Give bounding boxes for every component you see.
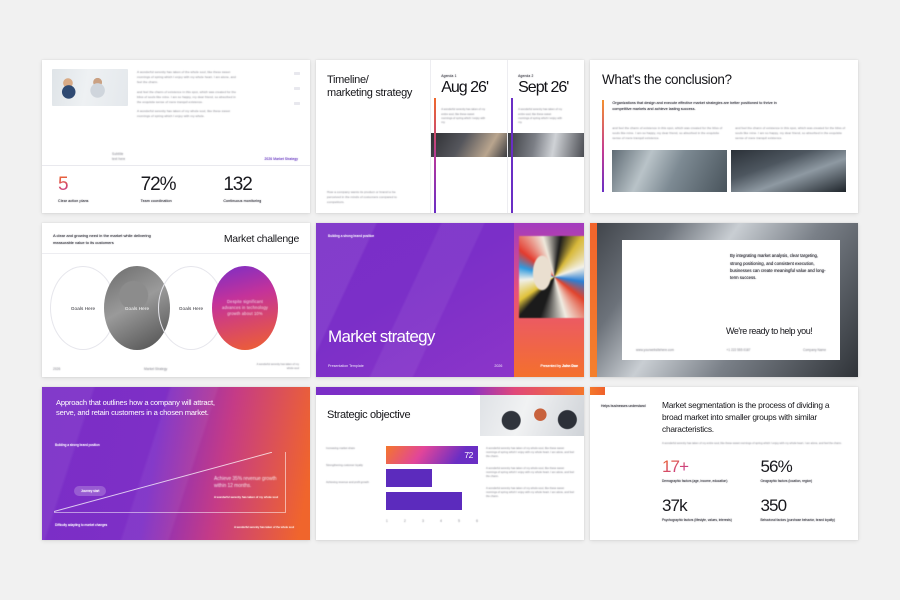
challenge-title: Market challenge [224, 233, 299, 246]
slide-timeline[interactable]: Timeline/ marketing strategy How a compa… [316, 60, 584, 213]
stats-copy: A wonderful serenity has taken of the wh… [137, 69, 255, 152]
marker-dash-icon [294, 72, 300, 75]
metric-value: 132 [223, 175, 300, 194]
slide-segmentation[interactable]: Helps businesses understand Market segme… [590, 387, 858, 540]
conclusion-photo [612, 150, 727, 192]
agenda-column-1[interactable]: Agenda 1 Aug 26' A wonderful serenity ha… [431, 60, 508, 213]
stat-item: 350 Behavioral factors (purchase behavio… [761, 497, 846, 523]
title-heading: Market strategy [328, 327, 435, 347]
chart-category: Strengthening customer loyalty [326, 464, 378, 468]
company-name: Company Name [803, 348, 826, 352]
ready-card: By integrating market analysis, clear ta… [622, 240, 840, 359]
conclusion-photo [731, 150, 846, 192]
title-footer-label: Presentation Template [328, 364, 364, 368]
stats-tag: 2026 Market Strategy [264, 157, 298, 161]
objective-chart-row: Increasing market share Strengthening cu… [316, 436, 584, 540]
marker-dash-icon [294, 87, 300, 90]
callout-title: Achieve 35% revenue growth within 12 mon… [214, 476, 280, 491]
challenge-footer-left: 2026 [53, 367, 60, 371]
stat-label: Behavioral factors (purchase behavior, b… [761, 518, 846, 523]
stat-value: 37k [662, 497, 747, 514]
presenter-name: John Doe [562, 364, 578, 368]
bar-chart-plot: 72 1 2 3 4 5 6 [386, 443, 478, 534]
challenge-footer-right: A wonderful serenity has taken of my who… [251, 363, 299, 371]
challenge-intro: A clear and growing need in the market w… [53, 233, 163, 245]
metric-value: 5 [58, 175, 135, 194]
agenda-photo [431, 133, 507, 157]
agenda-accent-bar [511, 98, 514, 213]
chart-category-labels: Increasing market share Strengthening cu… [326, 443, 378, 534]
chart-category: Achieving revenue and profit growth [326, 481, 378, 485]
gradient-top-bar [316, 387, 584, 395]
axis-tick: 4 [440, 519, 442, 523]
stat-label: Geographic factors (location, region) [761, 479, 846, 484]
axis-tick: 5 [458, 519, 460, 523]
metric-label: Team coordination [141, 199, 218, 203]
slide-title[interactable]: Building a strong brand position Market … [316, 223, 584, 376]
objective-notes: A wonderful serenity has taken of my who… [486, 443, 574, 534]
metric-item: 72% Team coordination [135, 175, 218, 203]
journey-start-pill[interactable]: Journey start [74, 486, 106, 496]
objective-title: Strategic objective [316, 395, 480, 436]
stat-item: 37k Psychographic factors (lifestyle, va… [662, 497, 747, 523]
chart-bar[interactable] [386, 492, 462, 510]
conclusion-title: What's the conclusion? [602, 72, 846, 88]
challenge-header: A clear and growing need in the market w… [42, 223, 310, 254]
stat-item: 17+ Demographic factors (age, income, ed… [662, 458, 747, 484]
conclusion-column-text: and feel the charm of existence in this … [612, 126, 723, 141]
venn-label: Goals Here [71, 306, 95, 311]
metric-label: Continuous monitoring [223, 199, 300, 203]
stat-value: 350 [761, 497, 846, 514]
objective-hero: Strategic objective [316, 395, 584, 436]
slide-market-challenge[interactable]: A clear and growing need in the market w… [42, 223, 310, 376]
metric-item: 5 Clear action plans [52, 175, 135, 203]
slide-stats[interactable]: A wonderful serenity has taken of the wh… [42, 60, 310, 213]
agenda-date: Sept 26' [518, 80, 577, 96]
venn-label: Goals Here [125, 306, 149, 311]
agenda-column-2[interactable]: Agenda 2 Sept 26' A wonderful serenity h… [508, 60, 584, 213]
challenge-footer-center: Market Strategy [144, 367, 167, 371]
conclusion-images [612, 150, 846, 192]
axis-tick: 6 [476, 519, 478, 523]
stats-subtitle-label: Subtitle [112, 152, 125, 157]
segmentation-stats: 17+ Demographic factors (age, income, ed… [662, 458, 845, 523]
stat-label: Demographic factors (age, income, educat… [662, 479, 747, 484]
approach-credit: A wonderful serenity has taken of the wh… [234, 525, 294, 529]
approach-callout: Achieve 35% revenue growth within 12 mon… [214, 476, 280, 500]
ready-lead: By integrating market analysis, clear ta… [730, 252, 826, 281]
conclusion-column-text: and feel the charm of existence in this … [735, 126, 846, 141]
objective-note: A wonderful serenity has taken of my who… [486, 487, 574, 500]
axis-tick: 3 [422, 519, 424, 523]
title-presented-by: Presented by John Doe [540, 364, 578, 368]
stat-label: Psychographic factors (lifestyle, values… [662, 518, 747, 523]
slide-ready[interactable]: By integrating market analysis, clear ta… [590, 223, 858, 376]
segmentation-sub: A wonderful serenity has taken of my ent… [662, 442, 845, 446]
objective-photo [480, 395, 584, 436]
stat-value: 17+ [662, 458, 747, 475]
timeline-title: Timeline/ marketing strategy [327, 74, 420, 100]
metric-item: 132 Continuous monitoring [217, 175, 300, 203]
agenda-kicker: Agenda 2 [518, 74, 577, 78]
challenge-footer: 2026 Market Strategy A wonderful serenit… [42, 363, 310, 377]
website-link[interactable]: www.yourwebsitehere.com [636, 348, 674, 352]
approach-label-bottom: Difficulty adapting to market changes [55, 523, 107, 528]
stats-subtitle-value: text here [112, 157, 125, 162]
timeline-title-line2: marketing strategy [327, 87, 420, 100]
venn-label: Goals Here [179, 306, 203, 311]
orange-corner-accent [590, 387, 605, 395]
orange-accent-strip [590, 223, 597, 376]
timeline-description: How a company wants its product or brand… [327, 190, 405, 205]
conclusion-columns: and feel the charm of existence in this … [612, 126, 846, 141]
slide-strategic-objective[interactable]: Strategic objective Increasing market sh… [316, 387, 584, 540]
stats-marker-list [264, 69, 300, 152]
agenda-photo [508, 133, 584, 157]
objective-note: A wonderful serenity has taken of my who… [486, 467, 574, 480]
presented-prefix: Presented by [540, 364, 562, 368]
agenda-kicker: Agenda 1 [441, 74, 500, 78]
stat-item: 56% Geographic factors (location, region… [761, 458, 846, 484]
phone-number[interactable]: +1 222 555 0187 [726, 348, 750, 352]
chart-bar[interactable] [386, 469, 432, 487]
stats-metric-row: 5 Clear action plans 72% Team coordinati… [52, 166, 300, 213]
approach-headline: Approach that outlines how a company wil… [42, 387, 247, 420]
agenda-accent-bar [434, 98, 437, 213]
objective-note: A wonderful serenity has taken of my who… [486, 447, 574, 460]
conclusion-body: Organizations that design and execute ef… [602, 100, 846, 193]
chart-bar[interactable]: 72 [386, 446, 478, 464]
bar-value-label: 72 [464, 450, 473, 460]
slide-grid: A wonderful serenity has taken of the wh… [0, 0, 900, 600]
metric-label: Clear action plans [58, 199, 135, 203]
ready-footer: www.yourwebsitehere.com +1 222 555 0187 … [636, 348, 826, 352]
stats-paragraph: and feel the charm of existence in this … [137, 90, 241, 105]
chart-x-axis: 1 2 3 4 5 6 [386, 515, 478, 523]
callout-subtext: A wonderful serenity has taken of my who… [214, 495, 280, 500]
segmentation-headline: Market segmentation is the process of di… [662, 400, 845, 436]
axis-tick: 1 [386, 519, 388, 523]
abstract-art-image [519, 236, 584, 318]
venn-ellipse-gradient[interactable]: Despite significant advances in technolo… [212, 266, 278, 350]
stats-paragraph: A wonderful serenity has taken of my who… [137, 109, 241, 119]
metric-value: 72% [141, 175, 218, 194]
slide-conclusion[interactable]: What's the conclusion? Organizations tha… [590, 60, 858, 213]
axis-tick: 2 [404, 519, 406, 523]
ready-headline: We're ready to help you! [726, 326, 826, 337]
title-side-panel: Presented by John Doe [514, 223, 584, 376]
agenda-date: Aug 26' [441, 80, 500, 96]
title-main-panel: Building a strong brand position Market … [316, 223, 514, 376]
marker-dash-icon [294, 102, 300, 105]
timeline-title-line1: Timeline/ [327, 74, 420, 87]
title-kicker: Building a strong brand position [328, 234, 514, 239]
chart-category: Increasing market share [326, 447, 378, 451]
title-footer-year: 2026 [494, 364, 502, 368]
conclusion-lead: Organizations that design and execute ef… [612, 100, 784, 113]
stats-top: A wonderful serenity has taken of the wh… [52, 69, 300, 152]
segmentation-side-note: Helps businesses understand [601, 400, 653, 540]
slide-approach[interactable]: Approach that outlines how a company wil… [42, 387, 310, 540]
stat-value: 56% [761, 458, 846, 475]
stats-paragraph: A wonderful serenity has taken of the wh… [137, 70, 241, 85]
challenge-venn: Goals Here Goals Here Goals Here Despite… [42, 254, 310, 363]
approach-label-top: Building a strong brand position [55, 443, 100, 448]
venn-label: Despite significant advances in technolo… [221, 299, 269, 317]
stats-photo [52, 69, 128, 106]
segmentation-main: Market segmentation is the process of di… [662, 400, 845, 540]
agenda-body: A wonderful serenity has taken of my ent… [518, 108, 562, 125]
timeline-left: Timeline/ marketing strategy How a compa… [316, 60, 431, 213]
title-footer: Presentation Template 2026 [328, 364, 502, 368]
agenda-body: A wonderful serenity has taken of my ent… [441, 108, 485, 125]
stats-meta: Subtitle text here 2026 Market Strategy [52, 152, 300, 166]
